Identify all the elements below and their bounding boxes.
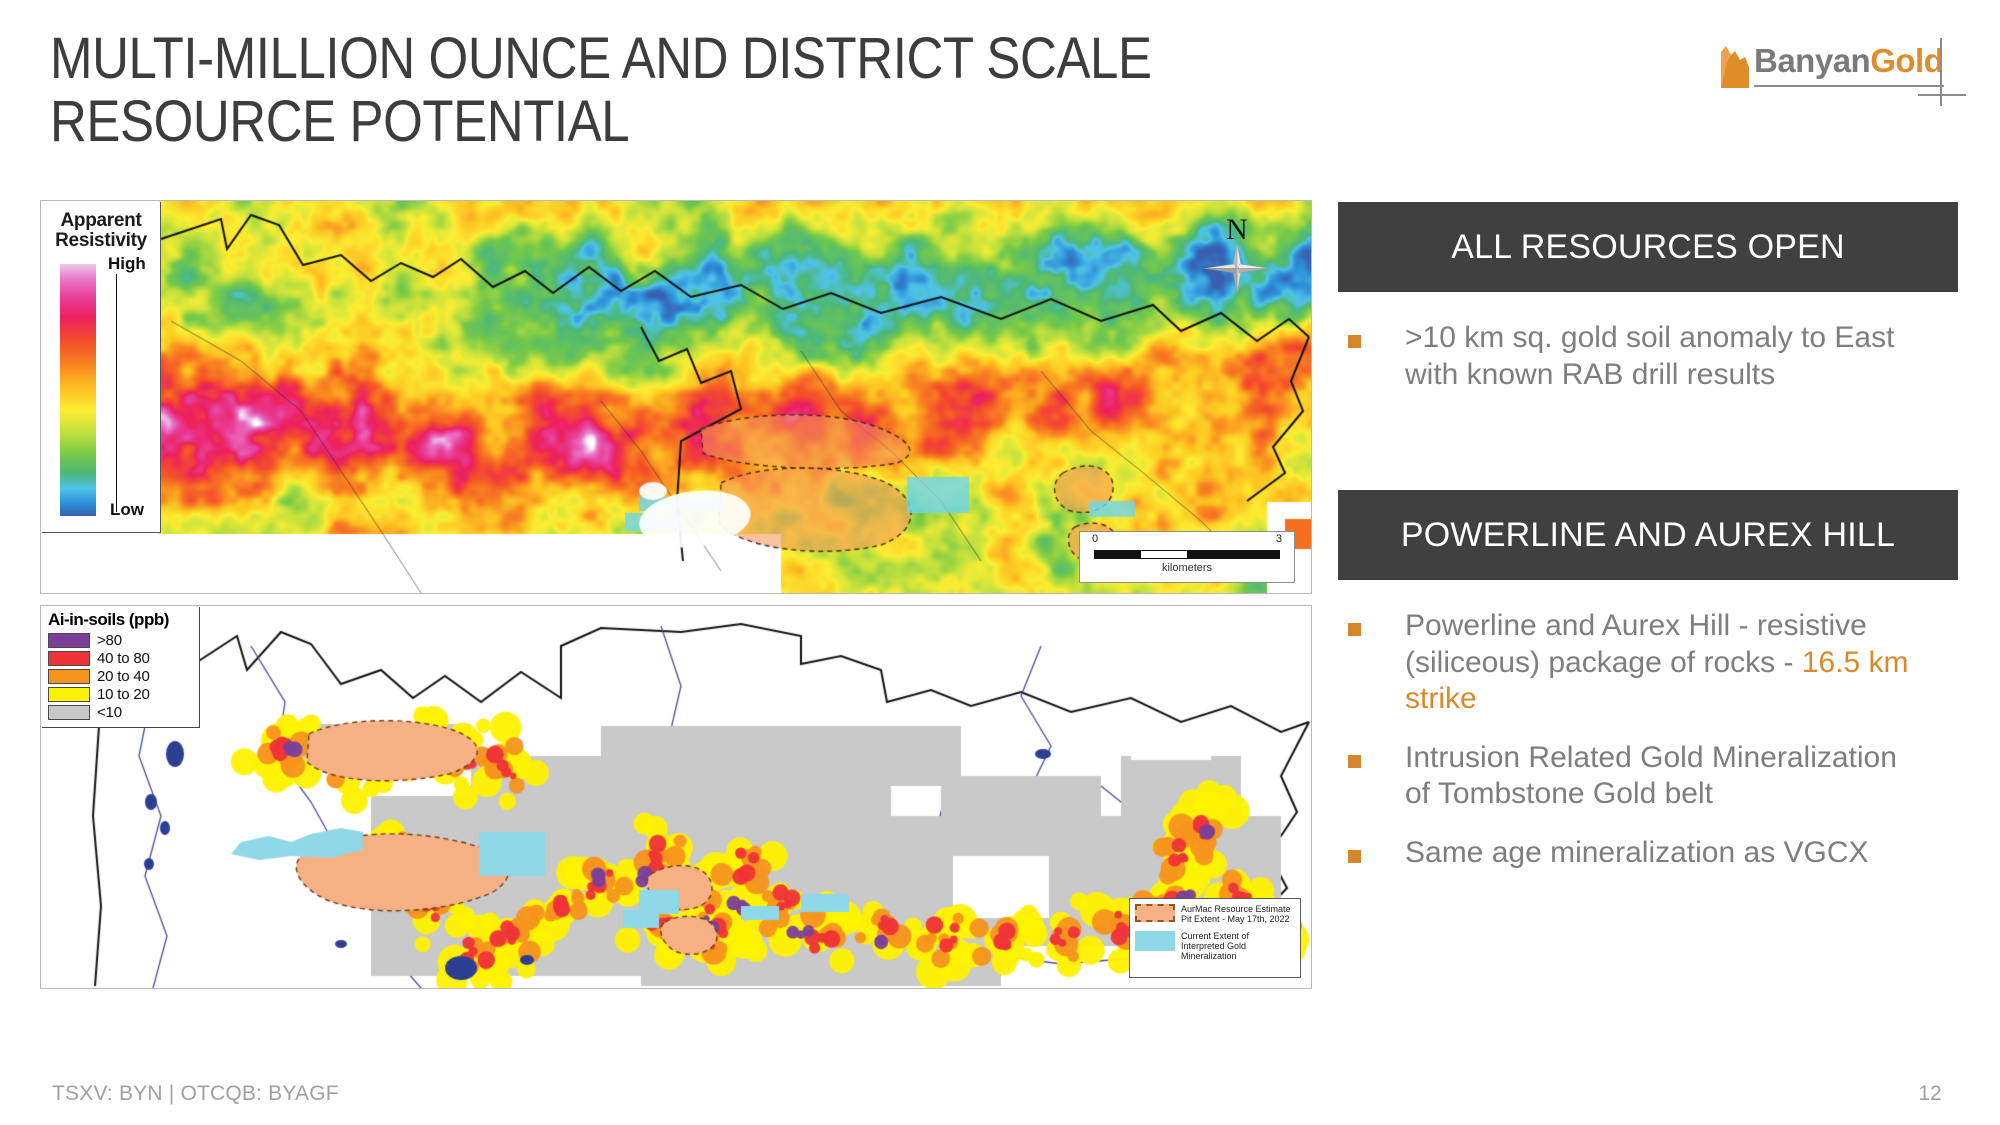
footer-page-number: 12: [1900, 1082, 1960, 1106]
bullet-marker-icon: [1348, 755, 1361, 768]
scale-bar-numbers: 0 3: [1080, 532, 1294, 548]
bullet-highlight: 16.5 km strike: [1405, 646, 1909, 716]
section-header-powerline: POWERLINE AND AUREX HILL: [1338, 490, 1958, 580]
scale-max-label: 3: [1276, 533, 1282, 545]
gold-label-line3: Mineralization: [1181, 951, 1249, 961]
resistivity-legend-title: Apparent Resistivity: [42, 202, 160, 251]
soils-legend-swatch: [48, 687, 90, 702]
soils-legend: Ai-in-soils (ppb) >8040 to 8020 to 4010 …: [42, 607, 200, 728]
compass-rose: N: [1191, 215, 1283, 315]
soils-legend-row: >80: [48, 632, 195, 649]
logo-banyan-text: Banyan: [1754, 42, 1870, 79]
compass-star-icon: [1191, 241, 1283, 315]
bullet-text: Same age mineralization as VGCX: [1405, 835, 1869, 872]
bullet-text: Powerline and Aurex Hill - resistive (si…: [1405, 608, 1925, 718]
gold-mineralization-swatch: [1135, 931, 1175, 951]
soils-legend-label: 40 to 80: [97, 650, 150, 667]
soil-geochem-map-panel[interactable]: Ai-in-soils (ppb) >8040 to 8020 to 4010 …: [40, 605, 1312, 989]
logo-gold-text: Gold: [1870, 42, 1943, 79]
bullet-item: Intrusion Related Gold Mineralization of…: [1338, 740, 1974, 813]
pit-label-line1: AurMac Resource Estimate: [1181, 904, 1291, 914]
soils-legend-label: <10: [97, 704, 122, 721]
pit-label-line2: Pit Extent - May 17th, 2022: [1181, 914, 1291, 924]
scale-min-label: 0: [1092, 533, 1098, 545]
soils-legend-row: 40 to 80: [48, 650, 195, 667]
soils-legend-row: <10: [48, 704, 195, 721]
bullet-marker-icon: [1348, 623, 1361, 636]
section-header-all-resources: ALL RESOURCES OPEN: [1338, 202, 1958, 292]
legend-low-label: Low: [110, 500, 144, 520]
gold-label-line2: Interpreted Gold: [1181, 941, 1249, 951]
logo-horizontal-rule: [1918, 94, 1966, 96]
soils-legend-swatch: [48, 705, 90, 720]
legend-title-line1: Apparent: [42, 211, 160, 231]
pit-extent-swatch: [1135, 904, 1175, 922]
bullet-item: Same age mineralization as VGCX: [1338, 835, 1974, 872]
resistivity-legend: Apparent Resistivity High Low: [42, 202, 161, 533]
gold-label-line1: Current Extent of: [1181, 931, 1249, 941]
soils-legend-swatch: [48, 651, 90, 666]
legend-axis-line: [116, 274, 117, 512]
legend-title-line2: Resistivity: [42, 231, 160, 251]
soils-legend-title: Ai-in-soils (ppb): [48, 610, 195, 630]
mountain-icon: [1718, 46, 1752, 88]
bullet-marker-icon: [1348, 850, 1361, 863]
logo-underline: [1754, 85, 1944, 87]
scale-bar-segments: [1094, 550, 1280, 559]
soils-legend-row: 20 to 40: [48, 668, 195, 685]
soil-geochem-canvas: [41, 606, 1311, 988]
scale-unit-label: kilometers: [1080, 562, 1294, 574]
resistivity-color-ramp: [60, 264, 96, 516]
bullet-marker-icon: [1348, 335, 1361, 348]
footer-ticker: TSXV: BYN | OTCQB: BYAGF: [52, 1082, 339, 1106]
bullet-item: Powerline and Aurex Hill - resistive (si…: [1338, 608, 1974, 718]
soils-legend-swatch: [48, 633, 90, 648]
pit-extent-label: AurMac Resource Estimate Pit Extent - Ma…: [1181, 904, 1291, 925]
gold-mineralization-label: Current Extent of Interpreted Gold Miner…: [1181, 931, 1249, 962]
bullet-list-all-resources: >10 km sq. gold soil anomaly to East wit…: [1338, 320, 1974, 415]
soils-legend-rows: >8040 to 8020 to 4010 to 20<10: [48, 632, 195, 721]
inset-gold-row: Current Extent of Interpreted Gold Miner…: [1135, 931, 1295, 962]
soils-legend-row: 10 to 20: [48, 686, 195, 703]
color-ramp-gradient: [60, 264, 96, 516]
company-logo: BanyanGold: [1718, 38, 1958, 104]
page-title: MULTI-MILLION OUNCE AND DISTRICT SCALE R…: [50, 28, 1176, 153]
inset-pit-row: AurMac Resource Estimate Pit Extent - Ma…: [1135, 904, 1295, 925]
soils-legend-label: >80: [97, 632, 122, 649]
soils-legend-swatch: [48, 669, 90, 684]
resistivity-map-panel[interactable]: Apparent Resistivity High Low N: [40, 200, 1312, 594]
scale-bar: 0 3 kilometers: [1079, 531, 1295, 583]
soils-legend-label: 10 to 20: [97, 686, 150, 703]
legend-high-label: High: [108, 254, 146, 274]
bullet-text: >10 km sq. gold soil anomaly to East wit…: [1405, 320, 1925, 393]
soils-legend-label: 20 to 40: [97, 668, 150, 685]
bullet-text: Intrusion Related Gold Mineralization of…: [1405, 740, 1925, 813]
bullet-item: >10 km sq. gold soil anomaly to East wit…: [1338, 320, 1974, 393]
logo-wordmark: BanyanGold: [1754, 42, 1943, 80]
slide-root: MULTI-MILLION OUNCE AND DISTRICT SCALE R…: [0, 0, 2000, 1125]
bullet-list-powerline: Powerline and Aurex Hill - resistive (si…: [1338, 608, 1974, 894]
map-inset-legend: AurMac Resource Estimate Pit Extent - Ma…: [1129, 898, 1301, 978]
